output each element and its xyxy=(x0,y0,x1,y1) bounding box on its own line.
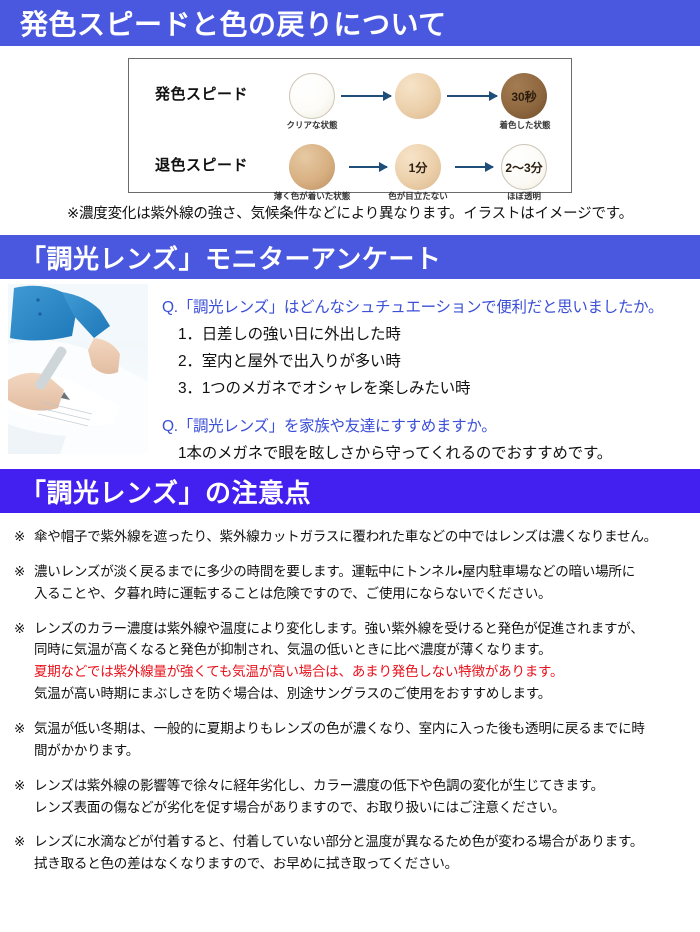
caution-line: レンズに水滴などが付着すると、付着していない部分と温度が異なるため色が変わる場合… xyxy=(34,831,686,853)
caution-line: 濃いレンズが淡く戻るまでに多少の時間を要します。運転中にトンネル・屋内駐車場など… xyxy=(34,561,686,583)
caution-item: ※ レンズに水滴などが付着すると、付着していない部分と温度が異なるため色が変わる… xyxy=(14,831,686,875)
section-3-body: ※ 傘や帽子で紫外線を遮ったり、紫外線カットガラスに覆われた車などの中ではレンズ… xyxy=(0,513,700,875)
lens-caption-fading-1: 薄く色が着いた状態 xyxy=(261,190,363,202)
survey-question-2: Q.「調光レンズ」を家族や友達にすすめますか。 xyxy=(162,414,700,436)
lens-coloring-step-3: 30秒 xyxy=(501,73,547,119)
lens-label: 30秒 xyxy=(511,88,536,105)
survey-answer-1: 1．日差しの強い日に外出した時 xyxy=(162,322,700,344)
caution-text: レンズに水滴などが付着すると、付着していない部分と温度が異なるため色が変わる場合… xyxy=(34,831,686,875)
bullet-mark: ※ xyxy=(14,775,34,819)
survey-answer-4: 1本のメガネで眼を眩しさから守ってくれるのでおすすめです。 xyxy=(162,441,700,463)
arrow-right-icon xyxy=(447,95,497,97)
caution-line: 傘や帽子で紫外線を遮ったり、紫外線カットガラスに覆われた車などの中ではレンズは濃… xyxy=(34,526,686,548)
lens-fading-step-2: 1分 xyxy=(395,144,441,190)
diagram-row-coloring: 発色スピード クリアな状態 30秒 着色した状態 xyxy=(141,69,559,131)
bullet-mark: ※ xyxy=(14,526,34,548)
lens-caption-fading-3: ほぼ透明 xyxy=(489,190,559,202)
qa-spacer xyxy=(162,398,700,414)
bullet-mark: ※ xyxy=(14,831,34,875)
lens-fading-step-1 xyxy=(289,144,335,190)
lens-label: 2〜3分 xyxy=(505,159,542,176)
caution-line: 同時に気温が高くなると発色が抑制され、気温の低いときに比べ濃度が薄くなります。 xyxy=(34,639,686,661)
section-2-title: 「調光レンズ」モニターアンケート xyxy=(20,239,441,276)
bullet-mark: ※ xyxy=(14,718,34,762)
caution-line-highlight: 夏期などでは紫外線量が強くても気温が高い場合は、あまり発色しない特徴があります。 xyxy=(34,661,686,683)
photo-person-writing-survey xyxy=(8,284,148,454)
caution-text: 気温が低い冬期は、一般的に夏期よりもレンズの色が濃くなり、室内に入った後も透明に… xyxy=(34,718,686,762)
diagram-note: ※濃度変化は紫外線の強さ、気候条件などにより異なります。イラストはイメージです。 xyxy=(0,202,700,223)
caution-item: ※ 気温が低い冬期は、一般的に夏期よりもレンズの色が濃くなり、室内に入った後も透… xyxy=(14,718,686,762)
caution-line: レンズ表面の傷などが劣化を促す場合がありますので、お取り扱いにはご注意ください。 xyxy=(34,797,686,819)
arrow-right-icon xyxy=(341,95,391,97)
section-3-title: 「調光レンズ」の注意点 xyxy=(20,473,311,510)
color-speed-diagram: 発色スピード クリアな状態 30秒 着色した状態 退色スピード xyxy=(128,58,572,193)
caution-line: レンズは紫外線の影響等で徐々に経年劣化し、カラー濃度の低下や色調の変化が生じてき… xyxy=(34,775,686,797)
survey-question-1: Q.「調光レンズ」はどんなシュチュエーションで便利だと思いましたか。 xyxy=(162,295,700,317)
caution-line: 気温が低い冬期は、一般的に夏期よりもレンズの色が濃くなり、室内に入った後も透明に… xyxy=(34,718,686,740)
survey-qa: Q.「調光レンズ」はどんなシュチュエーションで便利だと思いましたか。 1．日差し… xyxy=(162,289,700,463)
bullet-mark: ※ xyxy=(14,561,34,605)
lens-fading-step-3: 2〜3分 xyxy=(501,144,547,190)
row-label-fading: 退色スピード xyxy=(155,154,248,175)
caution-item: ※ 傘や帽子で紫外線を遮ったり、紫外線カットガラスに覆われた車などの中ではレンズ… xyxy=(14,526,686,548)
caution-text: 傘や帽子で紫外線を遮ったり、紫外線カットガラスに覆われた車などの中ではレンズは濃… xyxy=(34,526,686,548)
caution-line: 拭き取ると色の差はなくなりますので、お早めに拭き取ってください。 xyxy=(34,853,686,875)
caution-line: レンズのカラー濃度は紫外線や温度により変化します。強い紫外線を受けると発色が促進… xyxy=(34,618,686,640)
caution-text: 濃いレンズが淡く戻るまでに多少の時間を要します。運転中にトンネル・屋内駐車場など… xyxy=(34,561,686,605)
section-banner-color-speed: 発色スピードと色の戻りについて xyxy=(0,0,700,46)
product-info-page: 発色スピードと色の戻りについて 発色スピード クリアな状態 30秒 着色した状態 xyxy=(0,0,700,932)
diagram-row-fading: 退色スピード 薄く色が着いた状態 1分 色が目立たない 2〜3分 ほぼ透明 xyxy=(141,140,559,202)
lens-caption-coloring-3: 着色した状態 xyxy=(485,119,565,131)
arrow-right-icon xyxy=(455,166,493,168)
section-banner-survey: 「調光レンズ」モニターアンケート xyxy=(0,235,700,279)
caution-item: ※ レンズのカラー濃度は紫外線や温度により変化します。強い紫外線を受けると発色が… xyxy=(14,618,686,705)
survey-answer-3: 3．1つのメガネでオシャレを楽しみたい時 xyxy=(162,376,700,398)
lens-caption-coloring-1: クリアな状態 xyxy=(271,119,353,131)
lens-caption-fading-2: 色が目立たない xyxy=(373,190,463,202)
section-1-body: 発色スピード クリアな状態 30秒 着色した状態 退色スピード xyxy=(0,46,700,223)
caution-line: 間がかかります。 xyxy=(34,740,686,762)
caution-text: レンズは紫外線の影響等で徐々に経年劣化し、カラー濃度の低下や色調の変化が生じてき… xyxy=(34,775,686,819)
lens-label: 1分 xyxy=(409,159,428,176)
caution-line: 入ることや、夕暮れ時に運転することは危険ですので、ご使用にならないでください。 xyxy=(34,583,686,605)
row-label-coloring: 発色スピード xyxy=(155,83,248,104)
survey-answer-2: 2．室内と屋外で出入りが多い時 xyxy=(162,349,700,371)
lens-coloring-step-2 xyxy=(395,73,441,119)
caution-item: ※ レンズは紫外線の影響等で徐々に経年劣化し、カラー濃度の低下や色調の変化が生じ… xyxy=(14,775,686,819)
caution-item: ※ 濃いレンズが淡く戻るまでに多少の時間を要します。運転中にトンネル・屋内駐車場… xyxy=(14,561,686,605)
section-2-body: Q.「調光レンズ」はどんなシュチュエーションで便利だと思いましたか。 1．日差し… xyxy=(0,279,700,469)
caution-line: 気温が高い時期にまぶしさを防ぐ場合は、別途サングラスのご使用をおすすめします。 xyxy=(34,683,686,705)
survey-photo xyxy=(8,284,148,454)
lens-coloring-step-1 xyxy=(289,73,335,119)
caution-text: レンズのカラー濃度は紫外線や温度により変化します。強い紫外線を受けると発色が促進… xyxy=(34,618,686,705)
arrow-right-icon xyxy=(349,166,387,168)
bullet-mark: ※ xyxy=(14,618,34,705)
section-banner-cautions: 「調光レンズ」の注意点 xyxy=(0,469,700,513)
section-1-title: 発色スピードと色の戻りについて xyxy=(20,3,447,43)
